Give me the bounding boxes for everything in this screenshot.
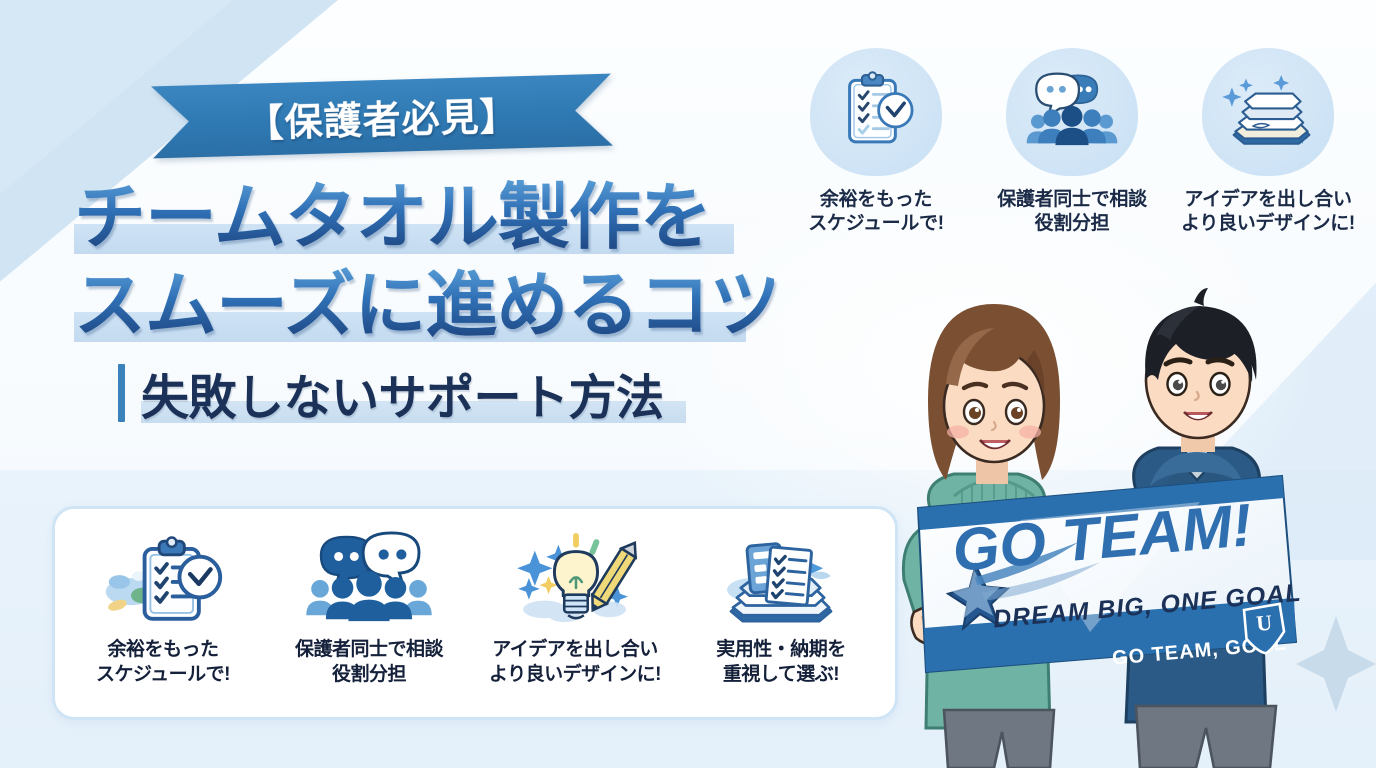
top-feature-item-1: 余裕をもった スケジュールで! [782,48,970,237]
clipboard-check-icon [100,531,226,629]
top-feature-label-3: アイデアを出し合い より良いデザインに! [1181,188,1355,237]
subtitle-accent-bar [118,364,125,422]
ribbon-badge: 【保護者必見】 [151,74,613,159]
feature-icon-wrap-4 [706,528,856,632]
top-feature-badge-3 [1202,48,1334,176]
speech-bubbles-people-icon [304,531,434,629]
headline-text-1: チームタオル製作を [74,176,774,260]
characters-and-banner-illustration: GO TEAM! DREAM BIG, ONE GOAL GO TEAM, GO… [900,240,1376,768]
feature-icon-wrap-2 [294,528,444,632]
feature-item-3: アイデアを出し合い より良いデザインに! [472,506,678,714]
feature-panel-items: 余裕をもった スケジュールで! [52,506,892,714]
headline-line-2: スムーズに進めるコツ [74,264,774,348]
pants [944,706,1276,768]
top-feature-label-2: 保護者同士で相談 役割分担 [997,188,1147,237]
headline-line-1: チームタオル製作を [74,176,774,260]
checklist-towels-icon [717,531,845,629]
lightbulb-pencil-icon [511,531,639,629]
subtitle-text: 失敗しないサポート方法 [141,358,664,428]
top-feature-badge-2 [1006,48,1138,176]
poster-canvas: 【保護者必見】 チームタオル製作を スムーズに進めるコツ 失敗しないサポート方法 [0,0,1376,768]
subtitle-text-wrap: 失敗しないサポート方法 [141,358,664,428]
feature-label-1: 余裕をもった スケジュールで! [96,638,230,687]
feature-label-2: 保護者同士で相談 役割分担 [295,638,443,687]
headline-text-2: スムーズに進めるコツ [74,264,774,348]
subtitle: 失敗しないサポート方法 [118,360,664,426]
team-banner: GO TEAM! DREAM BIG, ONE GOAL GO TEAM, GO… [918,476,1303,672]
top-feature-list: 余裕をもった スケジュールで! [782,48,1362,237]
sparkle-overlay [1296,616,1376,712]
top-feature-item-2: 保護者同士で相談 役割分担 [978,48,1166,237]
top-feature-badge-1 [810,48,942,176]
ribbon-label: 【保護者必見】 [151,74,613,159]
page-title: チームタオル製作を スムーズに進めるコツ [74,176,774,352]
feature-item-1: 余裕をもった スケジュールで! [60,506,266,714]
folded-towels-sparkle-icon [1218,68,1318,156]
top-feature-item-3: アイデアを出し合い より良いデザインに! [1174,48,1362,237]
top-feature-label-1: 余裕をもった スケジュールで! [808,188,944,237]
feature-label-4: 実用性・納期を 重視して選ぶ! [716,638,846,687]
illustration-characters: GO TEAM! DREAM BIG, ONE GOAL GO TEAM, GO… [900,240,1376,768]
feature-item-4: 実用性・納期を 重視して選ぶ! [678,506,884,714]
speech-bubbles-people-icon [1024,68,1120,156]
feature-label-3: アイデアを出し合い より良いデザインに! [489,638,661,687]
feature-item-2: 保護者同士で相談 役割分担 [266,506,472,714]
feature-icon-wrap-1 [88,528,238,632]
clipboard-check-icon [832,68,920,156]
feature-icon-wrap-3 [500,528,650,632]
svg-text:U: U [1255,610,1273,636]
